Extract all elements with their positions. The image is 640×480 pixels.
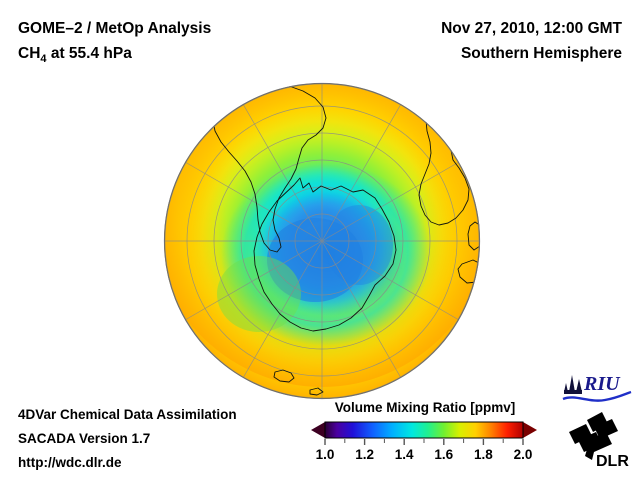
colorbar-gradient-bar	[325, 422, 523, 438]
colorbar-tick-label: 1.6	[434, 447, 453, 462]
region-label: Southern Hemisphere	[292, 41, 622, 66]
version-label: SACADA Version 1.7	[18, 427, 237, 451]
colorbar-tick-label: 2.0	[514, 447, 533, 462]
header-right-block: Nov 27, 2010, 12:00 GMT Southern Hemisph…	[292, 16, 622, 66]
riu-spire-icon	[564, 375, 582, 394]
orthographic-projection-svg	[163, 82, 481, 400]
colorbar: Volume Mixing Ratio [ppmv] 1.01.21.41.61…	[306, 400, 546, 467]
colorbar-tick-label: 1.8	[474, 447, 493, 462]
ch4-vortex-lobe-east	[325, 205, 393, 285]
website-url[interactable]: http://wdc.dlr.de	[18, 451, 237, 475]
riu-logo-svg: RIU	[561, 370, 633, 404]
species-label: CH	[18, 45, 40, 62]
riu-logo: RIU	[561, 370, 633, 404]
footer-info-block: 4DVar Chemical Data Assimilation SACADA …	[18, 403, 237, 475]
globe-map	[163, 82, 481, 400]
colorbar-tick-label: 1.4	[395, 447, 414, 462]
riu-logo-text: RIU	[583, 373, 621, 395]
colorbar-extend-low-arrow	[311, 422, 325, 438]
colorbar-extend-high-arrow	[523, 422, 537, 438]
colorbar-bar-row	[306, 420, 542, 440]
colorbar-gradient-svg	[306, 420, 542, 440]
datetime-label: Nov 27, 2010, 12:00 GMT	[292, 16, 622, 41]
level-label: at 55.4 hPa	[47, 45, 132, 62]
colorbar-tick-label: 1.0	[316, 447, 335, 462]
colorbar-ticks-svg	[306, 439, 542, 446]
colorbar-tick-labels: 1.01.21.41.61.82.0	[306, 447, 542, 467]
dlr-logo: DLR	[566, 410, 632, 472]
dlr-logo-svg: DLR	[566, 410, 632, 472]
colorbar-tick-label: 1.2	[355, 447, 374, 462]
colorbar-title: Volume Mixing Ratio [ppmv]	[308, 400, 542, 415]
method-label: 4DVar Chemical Data Assimilation	[18, 403, 237, 427]
dlr-logo-text: DLR	[596, 453, 629, 470]
